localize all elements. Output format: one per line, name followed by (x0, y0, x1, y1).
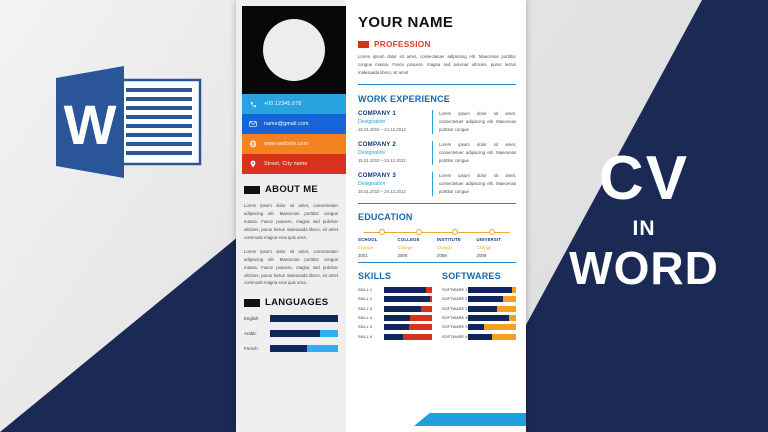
job-company: COMPANY 3 (358, 172, 432, 179)
job-description: Lorem ipsum dolor sit amet, consectetuer… (432, 141, 516, 165)
about-paragraph-2: Lorem ipsum dolor sit amet, consectetuer… (244, 248, 338, 288)
skill-name: SKILL 3 (358, 307, 384, 311)
bar-track (468, 287, 516, 293)
education-timeline: SCHOOLChange2001COLLEGEChange2006INSTITU… (358, 228, 516, 258)
contact-row-website[interactable]: www.website.com (242, 134, 346, 154)
skill-row: SKILL 6 (358, 334, 432, 340)
education-year: 2001 (358, 253, 398, 258)
email-icon (242, 120, 264, 128)
education-item: SCHOOLChange2001 (358, 237, 398, 258)
job-company: COMPANY 2 (358, 141, 432, 148)
job-meta: COMPANY 3Designation15.01.2010 – 24.12.2… (358, 172, 432, 196)
bar-track (468, 315, 516, 321)
education-title: EDUCATION (358, 212, 516, 222)
job-description: Lorem ipsum dolor sit amet, consectetuer… (432, 172, 516, 196)
svg-text:W: W (64, 93, 117, 156)
education-items: SCHOOLChange2001COLLEGEChange2006INSTITU… (358, 237, 516, 258)
skill-name: SKILL 2 (358, 297, 384, 301)
software-row: SOFTWARE 3 (442, 306, 516, 312)
language-name: French (244, 346, 270, 351)
job-description: Lorem ipsum dolor sit amet, consectetuer… (432, 110, 516, 134)
job-date-range: 15.01.2010 – 24.12.2012 (358, 189, 432, 194)
divider (358, 84, 516, 85)
contact-row-address[interactable]: Street, City name (242, 154, 346, 174)
bar-fill (468, 315, 509, 321)
contact-list: +00.12345.678 name@gmail.com www.website… (242, 94, 346, 174)
education-name: INSTITUTE (437, 237, 477, 242)
language-row: French (244, 345, 338, 352)
page-title: YOUR NAME (358, 14, 516, 31)
job-company: COMPANY 1 (358, 110, 432, 117)
education-name: SCHOOL (358, 237, 398, 242)
bar-fill (384, 324, 409, 330)
job-date-range: 15.01.2010 – 24.12.2012 (358, 127, 432, 132)
bar-track (384, 287, 432, 293)
language-bar (270, 315, 338, 322)
divider (358, 203, 516, 204)
skill-row: SKILL 5 (358, 324, 432, 330)
bar-fill (468, 324, 484, 330)
languages-title: LANGUAGES (265, 297, 328, 308)
profession-text: Lorem ipsum dolor sit amet, consectetuer… (358, 53, 516, 77)
software-name: SOFTWARE 5 (442, 325, 468, 329)
section-marker-icon (244, 299, 260, 307)
contact-value-phone: +00.12345.678 (264, 101, 301, 107)
job-designation: Designation (358, 119, 432, 125)
skills-block: SKILLS SKILL 1SKILL 2SKILL 3SKILL 4SKILL… (358, 271, 432, 343)
education-year: 2006 (398, 253, 438, 258)
bar-fill (468, 306, 497, 312)
avatar (263, 19, 325, 81)
divider (358, 262, 516, 263)
bar-fill (384, 315, 410, 321)
footer-accent-shape (414, 413, 526, 426)
education-change-label: Change (398, 245, 438, 250)
bar-track (384, 324, 432, 330)
about-paragraph-1: Lorem ipsum dolor sit amet, consectetuer… (244, 202, 338, 242)
location-pin-icon (242, 160, 264, 168)
work-experience-list: COMPANY 1Designation15.01.2010 – 24.12.2… (358, 110, 516, 195)
language-bar-fill (270, 330, 320, 337)
skills-title: SKILLS (358, 271, 432, 281)
about-me-title: ABOUT ME (265, 184, 318, 195)
language-bar (270, 345, 338, 352)
profession-title: PROFESSION (374, 40, 431, 49)
promo-text-block: CV IN WORD (520, 150, 768, 291)
contact-value-website: www.website.com (264, 141, 308, 147)
timeline-dot (452, 229, 458, 235)
job-designation: Designation (358, 150, 432, 156)
skill-row: SKILL 3 (358, 306, 432, 312)
education-name: COLLEGE (398, 237, 438, 242)
profession-header: PROFESSION (358, 40, 516, 49)
page-footer (346, 406, 526, 432)
background-triangle-left (0, 227, 250, 432)
bar-fill (384, 287, 426, 293)
skills-list: SKILL 1SKILL 2SKILL 3SKILL 4SKILL 5SKILL… (358, 287, 432, 340)
language-row: English (244, 315, 338, 322)
bar-track (384, 334, 432, 340)
skill-name: SKILL 4 (358, 316, 384, 320)
softwares-list: SOFTWARE 1SOFTWARE 2SOFTWARE 3SOFTWARE 4… (442, 287, 516, 340)
job-designation: Designation (358, 181, 432, 187)
bar-track (468, 324, 516, 330)
cv-document-preview[interactable]: +00.12345.678 name@gmail.com www.website… (236, 0, 526, 432)
bar-track (468, 296, 516, 302)
contact-value-address: Street, City name (264, 161, 307, 167)
skill-row: SKILL 2 (358, 296, 432, 302)
bar-fill (384, 334, 403, 340)
promo-subject: WORD (520, 245, 768, 291)
bar-track (384, 306, 432, 312)
software-name: SOFTWARE 4 (442, 316, 468, 320)
bar-fill (384, 296, 430, 302)
job-date-range: 15.01.2010 – 24.12.2012 (358, 158, 432, 163)
skills-softwares-row: SKILLS SKILL 1SKILL 2SKILL 3SKILL 4SKILL… (358, 271, 516, 343)
education-name: UNIVERSIT (477, 237, 517, 242)
software-row: SOFTWARE 6 (442, 334, 516, 340)
job-meta: COMPANY 1Designation15.01.2010 – 24.12.2… (358, 110, 432, 134)
software-row: SOFTWARE 1 (442, 287, 516, 293)
skill-name: SKILL 5 (358, 325, 384, 329)
work-experience-item: COMPANY 1Designation15.01.2010 – 24.12.2… (358, 110, 516, 134)
globe-icon (242, 140, 264, 148)
education-change-label: Change (358, 245, 398, 250)
language-row: Arabic (244, 330, 338, 337)
timeline-dot (416, 229, 422, 235)
work-experience-title: WORK EXPERIENCE (358, 94, 516, 104)
bar-track (468, 334, 516, 340)
softwares-title: SOFTWARES (442, 271, 516, 281)
contact-value-email: name@gmail.com (264, 121, 309, 127)
software-row: SOFTWARE 4 (442, 315, 516, 321)
cv-right-column: YOUR NAME PROFESSION Lorem ipsum dolor s… (346, 0, 526, 432)
section-marker-icon (358, 41, 369, 48)
education-timeline-axis (358, 228, 516, 237)
promo-connector: IN (520, 217, 768, 241)
language-name: English (244, 316, 270, 321)
softwares-block: SOFTWARES SOFTWARE 1SOFTWARE 2SOFTWARE 3… (442, 271, 516, 343)
education-change-label: Change (437, 245, 477, 250)
slide-canvas: W CV IN WORD +00.12345.678 (0, 0, 768, 432)
microsoft-word-logo: W (56, 66, 208, 178)
bar-track (384, 296, 432, 302)
language-name: Arabic (244, 331, 270, 336)
about-me-body: Lorem ipsum dolor sit amet, consectetuer… (244, 202, 338, 287)
work-experience-item: COMPANY 3Designation15.01.2010 – 24.12.2… (358, 172, 516, 196)
language-bar-fill (270, 315, 338, 322)
education-year: 2008 (437, 253, 477, 258)
bar-track (384, 315, 432, 321)
cv-left-column: +00.12345.678 name@gmail.com www.website… (236, 0, 346, 432)
timeline-dot (379, 229, 385, 235)
profile-photo-box (242, 6, 346, 94)
languages-header: LANGUAGES (244, 297, 346, 308)
promo-title: CV (520, 150, 768, 209)
timeline-dot (489, 229, 495, 235)
education-change-label: Change (477, 245, 517, 250)
phone-icon (242, 101, 264, 108)
bar-track (468, 306, 516, 312)
education-item: UNIVERSITChange2009 (477, 237, 517, 258)
languages-list: EnglishArabicFrench (244, 315, 338, 352)
job-meta: COMPANY 2Designation15.01.2010 – 24.12.2… (358, 141, 432, 165)
about-me-header: ABOUT ME (244, 184, 346, 195)
skill-name: SKILL 1 (358, 288, 384, 292)
education-item: INSTITUTEChange2008 (437, 237, 477, 258)
skill-row: SKILL 1 (358, 287, 432, 293)
software-row: SOFTWARE 5 (442, 324, 516, 330)
contact-row-phone[interactable]: +00.12345.678 (242, 94, 346, 114)
bar-fill (384, 306, 421, 312)
skill-row: SKILL 4 (358, 315, 432, 321)
bar-fill (468, 287, 512, 293)
work-experience-item: COMPANY 2Designation15.01.2010 – 24.12.2… (358, 141, 516, 165)
education-item: COLLEGEChange2006 (398, 237, 438, 258)
bar-fill (468, 296, 503, 302)
language-bar (270, 330, 338, 337)
language-bar-fill (270, 345, 307, 352)
software-row: SOFTWARE 2 (442, 296, 516, 302)
software-name: SOFTWARE 2 (442, 297, 468, 301)
software-name: SOFTWARE 3 (442, 307, 468, 311)
bar-fill (468, 334, 492, 340)
section-marker-icon (244, 186, 260, 194)
contact-row-email[interactable]: name@gmail.com (242, 114, 346, 134)
education-year: 2009 (477, 253, 517, 258)
software-name: SOFTWARE 6 (442, 335, 468, 339)
skill-name: SKILL 6 (358, 335, 384, 339)
software-name: SOFTWARE 1 (442, 288, 468, 292)
